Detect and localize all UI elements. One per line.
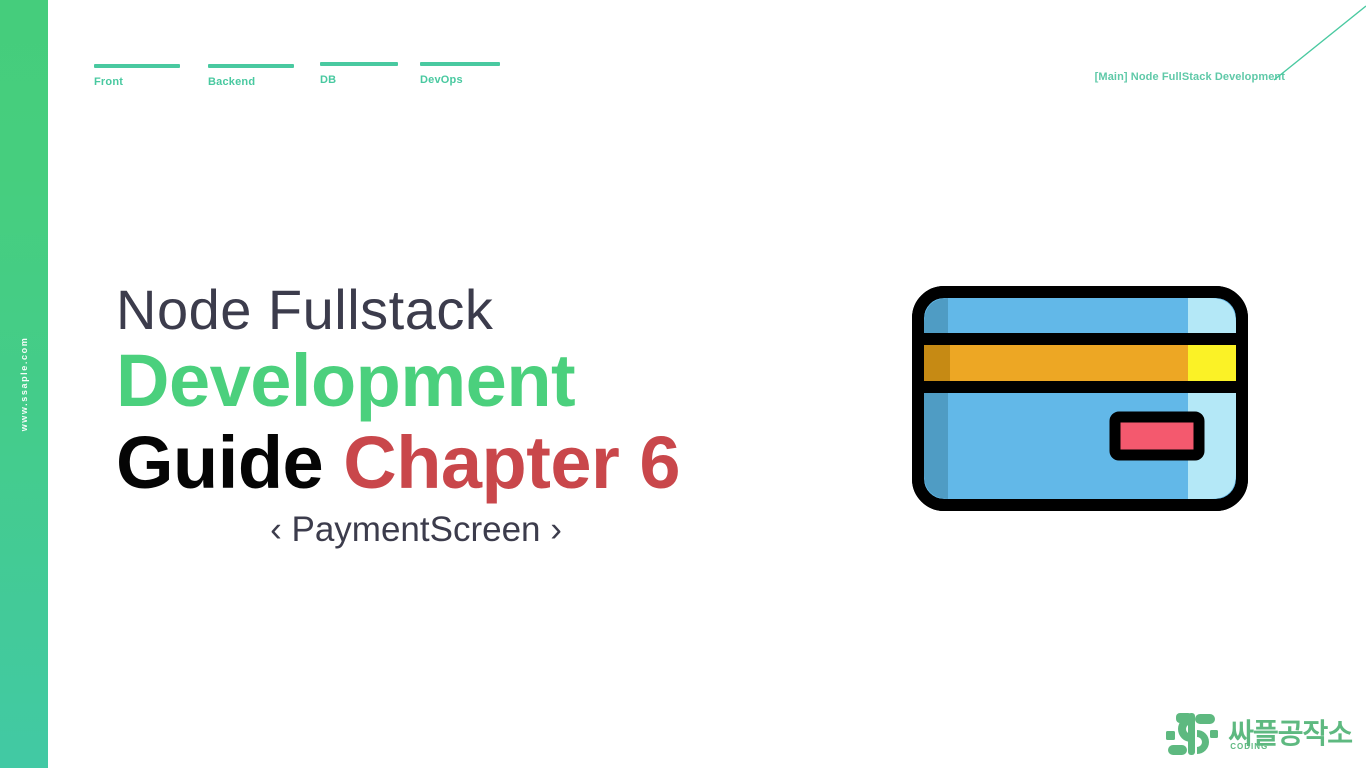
brand-logo: 싸플공작소 CODING — [1164, 708, 1352, 760]
subtitle-text: PaymentScreen — [291, 510, 540, 549]
headline-subtitle: ‹ PaymentScreen › — [116, 510, 716, 550]
nav-item-devops[interactable]: DevOps — [420, 62, 500, 86]
headline-line-1: Node Fullstack — [116, 278, 716, 342]
sidebar-gradient-bar: www.ssaple.com — [0, 0, 48, 768]
nav-underline-db — [320, 62, 398, 66]
subtitle-left-chevron-icon: ‹ — [270, 510, 282, 549]
nav-item-front[interactable]: Front — [94, 64, 180, 88]
headline-block: Node Fullstack Development Guide Chapter… — [116, 278, 716, 550]
sidebar-website-url: www.ssaple.com — [19, 337, 29, 432]
headline-line-2: Development — [116, 340, 716, 422]
corner-breadcrumb-label: [Main] Node FullStack Development — [1095, 71, 1285, 83]
nav-label-db: DB — [320, 74, 398, 86]
credit-card-icon — [912, 286, 1248, 511]
nav-underline-backend — [208, 64, 294, 68]
top-nav: Front Backend DB DevOps — [0, 0, 1366, 110]
brand-coding-label: CODING — [1230, 742, 1268, 751]
headline-line-3: Guide Chapter 6 — [116, 422, 716, 504]
nav-item-backend[interactable]: Backend — [208, 64, 294, 88]
brand-mark-icon — [1164, 708, 1220, 760]
headline-guide-text: Guide — [116, 421, 343, 504]
subtitle-right-chevron-icon: › — [550, 510, 562, 549]
brand-text-block: 싸플공작소 CODING — [1228, 719, 1352, 749]
nav-underline-front — [94, 64, 180, 68]
nav-label-devops: DevOps — [420, 74, 500, 86]
nav-label-backend: Backend — [208, 76, 294, 88]
nav-label-front: Front — [94, 76, 180, 88]
slide-root: www.ssaple.com Front Backend DB DevOps [… — [0, 0, 1366, 768]
nav-item-db[interactable]: DB — [320, 62, 398, 86]
nav-underline-devops — [420, 62, 500, 66]
headline-chapter-text: Chapter 6 — [343, 421, 680, 504]
